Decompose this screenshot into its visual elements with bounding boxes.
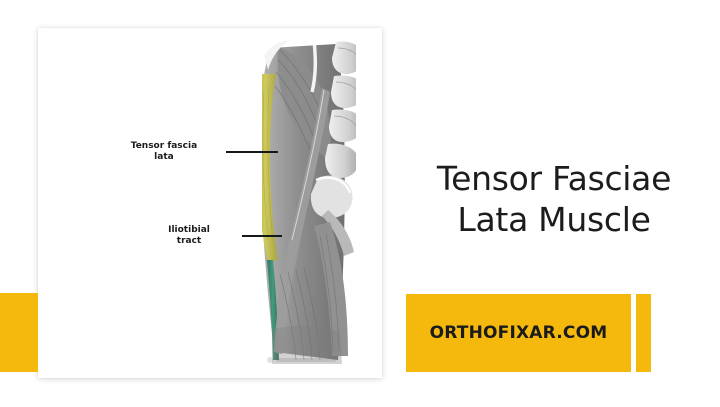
slide-canvas: Tensor fascia lata Iliotibial tract Tens… [0,0,720,407]
leader-line-tensor-fascia-lata [226,151,278,153]
callout-tensor-fascia-lata-label: Tensor fascia lata [108,141,220,163]
leader-line-iliotibial-tract [242,235,282,237]
page-title: Tensor Fasciae Lata Muscle [404,158,704,240]
title-block: Tensor Fasciae Lata Muscle [404,158,704,240]
brand-banner: ORTHOFIXAR.COM [406,294,631,372]
callout-iliotibial-tract: Iliotibial tract [142,225,282,247]
accent-bar-right [636,294,651,372]
accent-block-left [0,293,38,372]
brand-label: ORTHOFIXAR.COM [430,323,608,343]
callout-tensor-fascia-lata: Tensor fascia lata [108,141,278,163]
anatomy-illustration [218,30,378,375]
femoral-head [311,176,353,218]
anatomy-image-card: Tensor fascia lata Iliotibial tract [38,28,382,378]
callout-iliotibial-tract-label: Iliotibial tract [142,225,236,247]
